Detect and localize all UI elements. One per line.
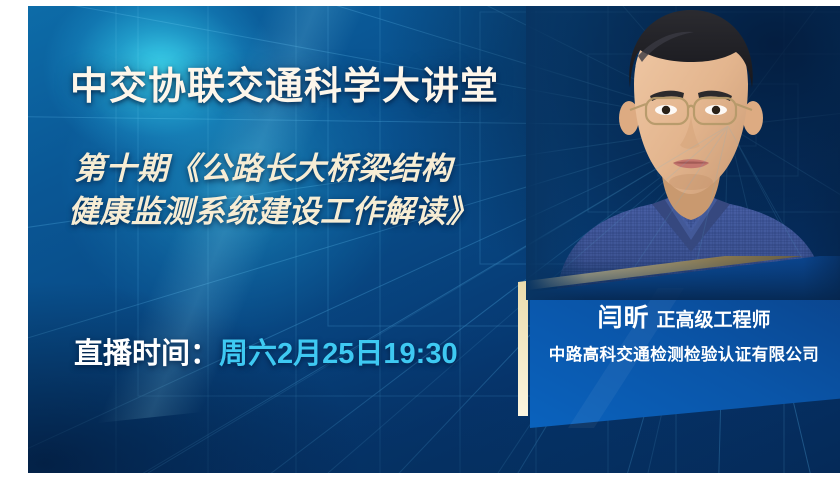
portrait-edge-fade	[526, 6, 840, 300]
subtitle-line-2: 健康监测系统建设工作解读》	[68, 191, 478, 234]
speaker-portrait	[526, 6, 840, 300]
broadcast-time-label: 直播时间：	[74, 338, 219, 370]
broadcast-time: 直播时间：周六2月25日19:30	[74, 330, 458, 372]
subtitle-line-1: 第十期《公路长大桥梁结构	[74, 151, 452, 186]
subtitle: 第十期《公路长大桥梁结构 健康监测系统建设工作解读》	[74, 148, 478, 234]
broadcast-time-value: 周六2月25日19:30	[219, 338, 458, 370]
poster-canvas: 中交协联交通科学大讲堂 第十期《公路长大桥梁结构 健康监测系统建设工作解读》 直…	[28, 6, 840, 473]
page-title: 中交协联交通科学大讲堂	[70, 55, 499, 110]
